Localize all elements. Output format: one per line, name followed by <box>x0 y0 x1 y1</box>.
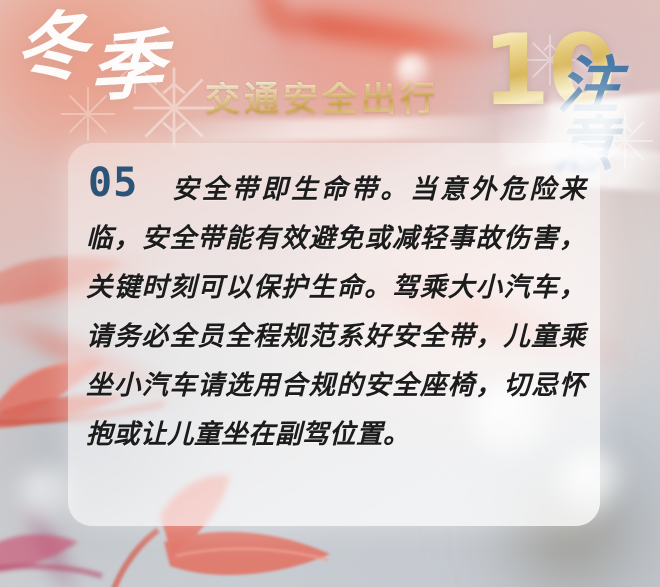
title-season-char-1: 冬 <box>14 2 85 96</box>
title-subtitle: 交通安全出行 <box>205 82 439 117</box>
content-card-body: 05 安全带即生命带。当意外危险来临，安全带能有效避免或减轻事故伤害，关键时刻可… <box>68 143 600 526</box>
header-title-group: 冬季 交通安全出行 10 注 意 <box>0 0 660 150</box>
poster-canvas: 冬季 交通安全出行 10 注 意 05 安全带即生命带。当意外危险来临，安全带能… <box>0 0 660 587</box>
title-season-char-2: 季 <box>89 28 161 106</box>
title-season: 冬季 <box>14 1 155 90</box>
title-note-char-1: 注 <box>556 56 660 116</box>
item-body-text: 安全带即生命带。当意外危险来临，安全带能有效避免或减轻事故伤害，关键时刻可以保护… <box>86 165 586 459</box>
